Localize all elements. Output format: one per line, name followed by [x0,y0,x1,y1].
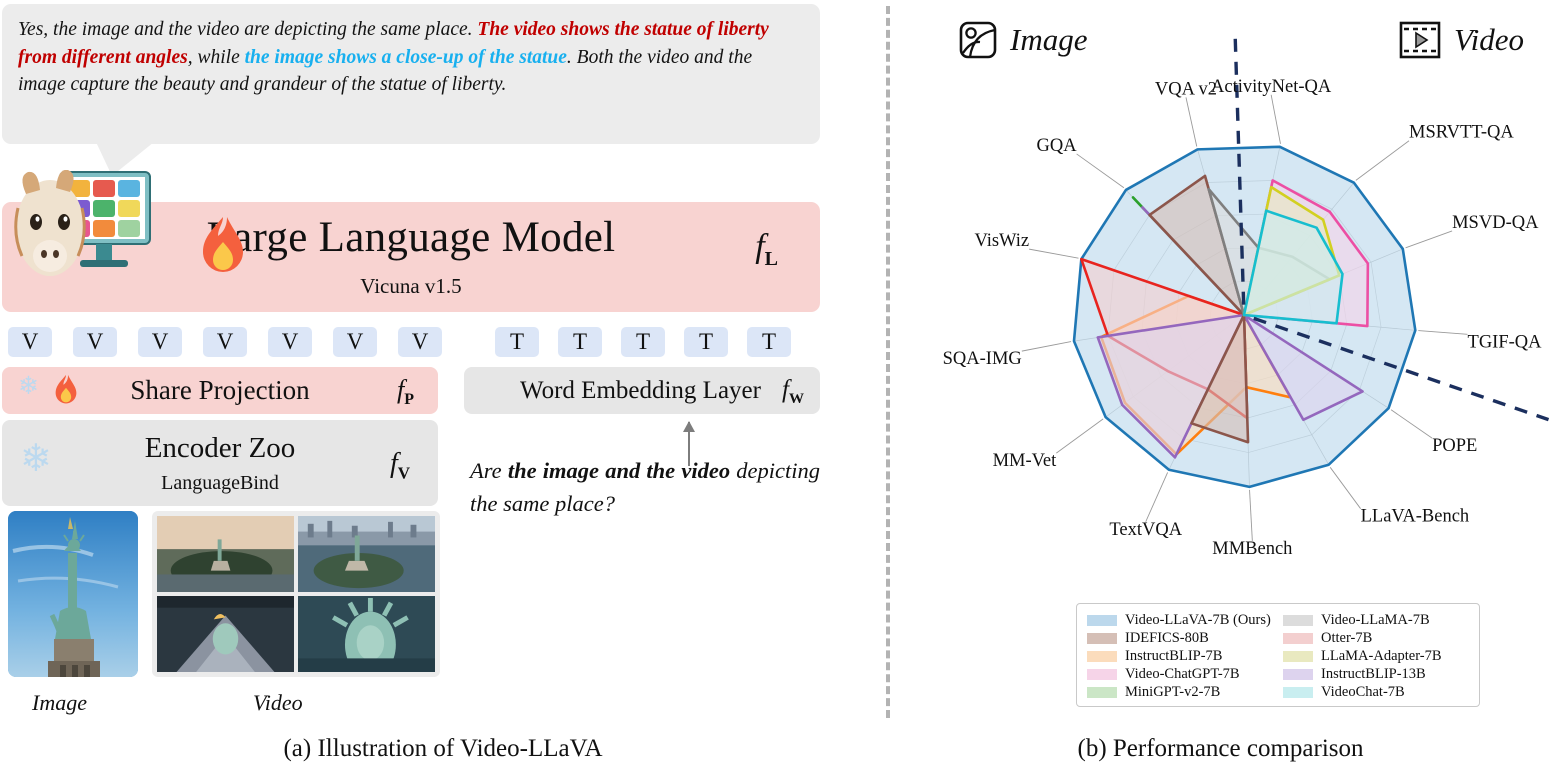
user-question-text: Are the image and the video depicting th… [470,455,820,520]
image-caption: Image [32,690,87,716]
legend-label: Video-LLaVA-7B (Ours) [1125,611,1271,629]
encoder-zoo-label: Encoder Zoo [2,432,438,465]
snowflake-icon: ❄ [20,440,52,478]
answer-seg-3-cyan: the image shows a close-up of the statue [245,47,567,68]
legend-swatch [1087,615,1117,626]
radar-chart: ActivityNet-QAMSRVTT-QAMSVD-QATGIF-QAPOP… [886,0,1555,620]
performance-panel: Image Video ActivityNet-QAMSRVTT-QAMSVD-… [886,0,1555,778]
legend-item: Video-LLaVA-7B (Ours) [1087,611,1273,629]
axis-label-sqa-img: SQA-IMG [943,349,1022,369]
legend-swatch [1087,669,1117,680]
video-frame [298,596,435,672]
visual-token: V [333,327,377,357]
model-answer-text: Yes, the image and the video are depicti… [18,16,804,99]
fire-icon [196,216,250,278]
share-projection-function-symbol: fP [397,375,414,409]
answer-seg-0: Yes, the image and the video are depicti… [18,19,477,40]
word-embedding-block: Word Embedding Layer fW [464,367,820,414]
legend-label: Otter-7B [1321,629,1372,647]
legend-swatch [1087,633,1117,644]
word-embedding-function-symbol: fW [782,376,804,408]
axis-label-mm-vet: MM-Vet [993,451,1058,471]
legend-label: Video-ChatGPT-7B [1125,665,1240,683]
visual-token: V [8,327,52,357]
enc-fn-letter: f [390,448,398,479]
axis-label-tgif-qa: TGIF-QA [1468,332,1543,352]
wemb-fn-letter: f [782,376,789,403]
text-token: T [558,327,602,357]
enc-fn-subscript: V [398,464,410,483]
model-answer-bubble: Yes, the image and the video are depicti… [2,4,820,144]
fire-icon [52,374,80,407]
question-seg-1-bold: the image and the video [508,458,736,483]
text-token: T [747,327,791,357]
llama-computer-icon [8,170,158,282]
radar-series-group [1074,147,1415,487]
axis-label-msvd-qa: MSVD-QA [1452,213,1539,233]
legend-swatch [1283,633,1313,644]
right-subcaption: (b) Performance comparison [886,735,1555,763]
visual-token: V [203,327,247,357]
legend-item: Video-LLaMA-7B [1283,611,1469,629]
video-frame [157,596,294,672]
word-embedding-label: Word Embedding Layer [520,377,761,405]
legend-label: Video-LLaMA-7B [1321,611,1430,629]
input-image-thumbnail [8,511,138,677]
visual-token: V [138,327,182,357]
text-token: T [621,327,665,357]
text-token: T [495,327,539,357]
legend-item: Otter-7B [1283,629,1469,647]
axis-label-pope: POPE [1432,436,1477,456]
legend-item: InstructBLIP-7B [1087,647,1273,665]
legend-item: InstructBLIP-13B [1283,665,1469,683]
encoder-zoo-function-symbol: fV [390,448,410,484]
illustration-panel: Yes, the image and the video are depicti… [0,0,886,778]
left-subcaption: (a) Illustration of Video-LLaVA [0,735,886,763]
snowflake-icon: ❄ [18,374,39,399]
llm-fn-letter: f [755,228,764,265]
proj-fn-subscript: P [404,391,414,408]
legend-swatch [1283,687,1313,698]
encoder-zoo-block: Encoder Zoo LanguageBind fV [2,420,438,506]
visual-token: V [73,327,117,357]
encoder-zoo-subtitle: LanguageBind [2,472,438,495]
legend-label: LLaMA-Adapter-7B [1321,647,1442,665]
legend-item: VideoChat-7B [1283,683,1469,701]
legend-swatch [1283,669,1313,680]
input-video-thumbnails [152,511,440,677]
legend-label: MiniGPT-v2-7B [1125,683,1220,701]
video-frame [157,516,294,592]
llm-fn-subscript: L [765,248,778,270]
chart-legend: Video-LLaVA-7B (Ours)Video-LLaMA-7BIDEFI… [1076,603,1480,707]
answer-seg-2: , while [188,47,245,68]
legend-label: InstructBLIP-7B [1125,647,1222,665]
axis-label-vqa-v2: VQA v2 [1155,79,1217,99]
question-seg-0: Are [470,458,508,483]
legend-swatch [1283,615,1313,626]
axis-label-activitynet-qa: ActivityNet-QA [1211,77,1332,97]
axis-label-msrvtt-qa: MSRVTT-QA [1409,123,1514,143]
video-frame [298,516,435,592]
axis-label-mmbench: MMBench [1212,539,1292,559]
axis-label-viswiz: VisWiz [974,231,1029,251]
axis-label-llava-bench: LLaVA-Bench [1361,507,1470,527]
llm-function-symbol: fL [755,228,778,271]
axis-label-textvqa: TextVQA [1109,520,1182,540]
text-token: T [684,327,728,357]
legend-swatch [1087,687,1117,698]
wemb-fn-subscript: W [789,391,804,407]
legend-item: IDEFICS-80B [1087,629,1273,647]
legend-label: VideoChat-7B [1321,683,1405,701]
axis-label-gqa: GQA [1037,136,1078,156]
video-caption: Video [253,690,303,716]
legend-label: InstructBLIP-13B [1321,665,1426,683]
visual-token: V [268,327,312,357]
legend-swatch [1283,651,1313,662]
visual-token: V [398,327,442,357]
legend-item: Video-ChatGPT-7B [1087,665,1273,683]
legend-item: LLaMA-Adapter-7B [1283,647,1469,665]
legend-swatch [1087,651,1117,662]
legend-item: MiniGPT-v2-7B [1087,683,1273,701]
legend-label: IDEFICS-80B [1125,629,1209,647]
